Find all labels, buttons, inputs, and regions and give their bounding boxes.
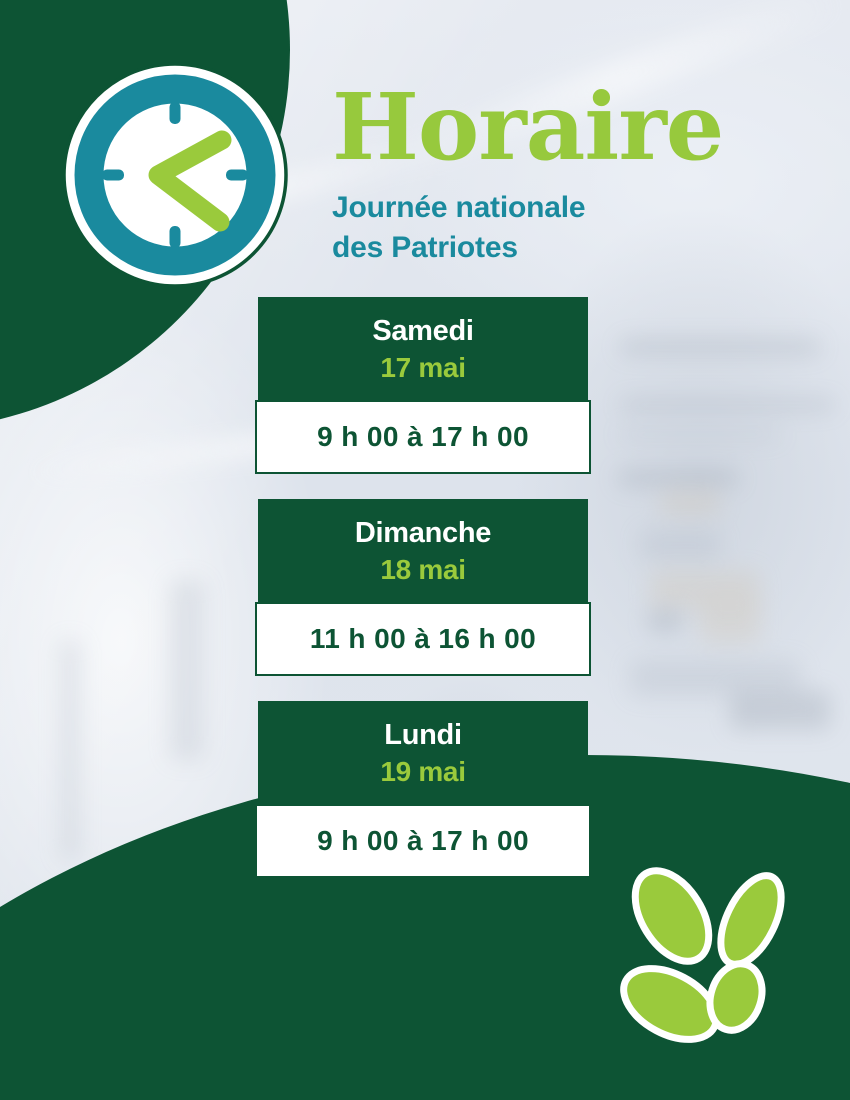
schedule-hours-label: 9 h 00 à 17 h 00: [267, 826, 579, 857]
schedule-card-body: 9 h 00 à 17 h 00: [255, 400, 591, 474]
clock-icon: [62, 62, 288, 288]
schedule-day-label: Lundi: [268, 719, 578, 753]
schedule-poster: Horaire Journée nationale des Patriotes …: [0, 0, 850, 1100]
schedule-date-label: 19 mai: [268, 755, 578, 789]
subtitle-line-2: des Patriotes: [332, 228, 802, 268]
poster-header: Horaire Journée nationale des Patriotes: [332, 82, 802, 269]
page-subtitle: Journée nationale des Patriotes: [332, 188, 802, 268]
schedule-card-body: 9 h 00 à 17 h 00: [255, 804, 591, 878]
schedule-card-header: Lundi 19 mai: [258, 701, 588, 804]
schedule-card-header: Dimanche 18 mai: [258, 499, 588, 602]
page-title: Horaire: [332, 82, 802, 172]
schedule-date-label: 17 mai: [268, 351, 578, 385]
schedule-day-label: Dimanche: [268, 517, 578, 551]
schedule-card: Lundi 19 mai 9 h 00 à 17 h 00: [0, 701, 850, 878]
schedule-card: Samedi 17 mai 9 h 00 à 17 h 00: [0, 297, 850, 474]
schedule-hours-label: 9 h 00 à 17 h 00: [267, 422, 579, 453]
schedule-hours-label: 11 h 00 à 16 h 00: [267, 624, 579, 655]
schedule-card: Dimanche 18 mai 11 h 00 à 16 h 00: [0, 499, 850, 676]
schedule-card-header: Samedi 17 mai: [258, 297, 588, 400]
schedule-day-label: Samedi: [268, 315, 578, 349]
schedule-list: Samedi 17 mai 9 h 00 à 17 h 00 Dimanche …: [0, 297, 850, 903]
schedule-card-body: 11 h 00 à 16 h 00: [255, 602, 591, 676]
subtitle-line-1: Journée nationale: [332, 188, 802, 228]
schedule-date-label: 18 mai: [268, 553, 578, 587]
butterfly-logo: [614, 864, 810, 1060]
